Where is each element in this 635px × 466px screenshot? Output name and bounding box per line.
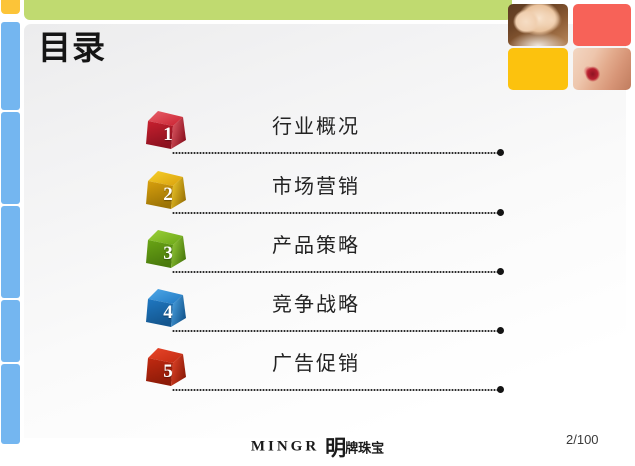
leader-end-dot bbox=[497, 268, 504, 275]
leader-end-dot bbox=[497, 209, 504, 216]
leader-end-dot bbox=[497, 386, 504, 393]
header-green-bar bbox=[24, 0, 512, 20]
leader-end-dot bbox=[497, 327, 504, 334]
toc-item-label[interactable]: 广告促销 bbox=[272, 349, 360, 379]
swatch-coral bbox=[573, 4, 631, 46]
leader-dots bbox=[172, 271, 500, 273]
page-title: 目录 bbox=[38, 28, 106, 68]
toc-row[interactable]: 3产品策略 bbox=[0, 227, 635, 285]
toc-row[interactable]: 2市场营销 bbox=[0, 168, 635, 226]
photo-girl-laughing-image bbox=[508, 4, 568, 46]
page-number: 2/100 bbox=[566, 432, 599, 447]
slide-root: 目录 1行业概况2市场营销3产品策略4竞争战略5广告促销 MINGR明牌珠宝 2… bbox=[0, 0, 635, 466]
leader-dots bbox=[172, 152, 500, 154]
logo-chinese-mark: 明 bbox=[325, 436, 345, 460]
cube-number: 2 bbox=[142, 168, 194, 216]
leader-dots bbox=[172, 330, 500, 332]
rail-orange-tile bbox=[1, 0, 20, 14]
logo-english-text: MINGR bbox=[251, 439, 319, 455]
leader-end-dot bbox=[497, 149, 504, 156]
leader-dots bbox=[172, 389, 500, 391]
toc-item-label[interactable]: 市场营销 bbox=[272, 172, 360, 202]
photo-girl-laughing bbox=[508, 4, 568, 46]
toc-item-label[interactable]: 竞争战略 bbox=[272, 290, 360, 320]
swatch-yellow bbox=[508, 48, 568, 90]
photo-lipstick-lips bbox=[573, 48, 631, 90]
toc-row[interactable]: 5广告促销 bbox=[0, 345, 635, 403]
toc-item-label[interactable]: 产品策略 bbox=[272, 231, 360, 261]
toc-item-label[interactable]: 行业概况 bbox=[272, 112, 360, 142]
logo-chinese-text: 牌珠宝 bbox=[345, 441, 384, 456]
cube-number: 5 bbox=[142, 345, 194, 393]
rail-segment-1 bbox=[1, 22, 20, 110]
cube-number: 3 bbox=[142, 227, 194, 275]
brand-logo: MINGR明牌珠宝 bbox=[0, 432, 635, 462]
toc-row[interactable]: 1行业概况 bbox=[0, 108, 635, 166]
leader-dots bbox=[172, 212, 500, 214]
photo-lipstick-lips-image bbox=[573, 48, 631, 90]
cube-number: 4 bbox=[142, 286, 194, 334]
toc-row[interactable]: 4竞争战略 bbox=[0, 286, 635, 344]
cube-number: 1 bbox=[142, 108, 194, 156]
